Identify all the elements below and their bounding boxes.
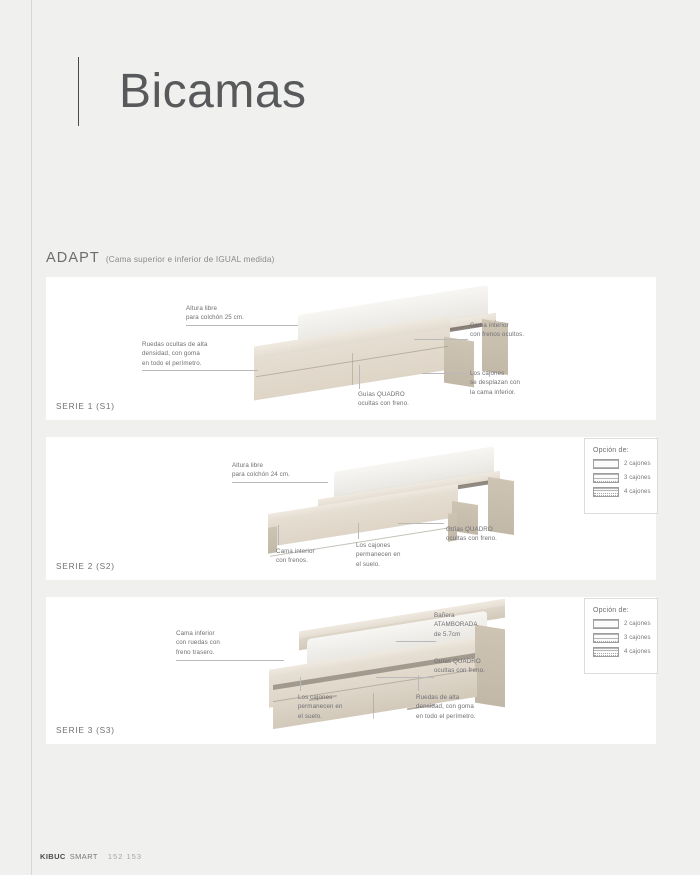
collection-name: SMART [70, 852, 98, 861]
serie-label-3: SERIE 3 (S3) [56, 725, 115, 735]
leader-cama-interior [414, 339, 468, 340]
brand-name: KIBUC [40, 852, 66, 861]
option-box-serie-2: Opción de: 2 cajones 3 cajones 4 cajones [584, 438, 658, 514]
annotation-guias: Guías QUADRO ocultas con freno. [446, 525, 542, 544]
option-label: 4 cajones [624, 649, 651, 655]
drawer-2-icon [593, 459, 619, 469]
page-title: Bicamas [119, 68, 307, 116]
option-row-2-cajones[interactable]: 2 cajones [593, 619, 657, 629]
option-row-2-cajones[interactable]: 2 cajones [593, 459, 657, 469]
annotation-guias: Guías QUADRO ocultas con freno. [434, 657, 530, 676]
option-label: 3 cajones [624, 475, 651, 481]
annotation-cama-interior: Cama interior con frenos ocultos. [470, 321, 580, 340]
leader-ruedas [142, 370, 258, 371]
drawer-divider-vertical [352, 353, 353, 385]
annotation-ruedas: Ruedas de alta densidad, con goma en tod… [416, 693, 524, 721]
leader-cama-interior [278, 525, 279, 545]
option-box-title: Opción de: [593, 447, 657, 454]
serie-label-2: SERIE 2 (S2) [56, 561, 115, 571]
leader-cajones [422, 373, 468, 374]
panel-serie-3: Cama inferior con ruedas con freno trase… [46, 597, 656, 744]
leader-banera [396, 641, 436, 642]
option-box-title: Opción de: [593, 607, 657, 614]
annotation-cajones: Los cajones permanecen en el suelo. [356, 541, 446, 569]
left-margin-rule [31, 0, 32, 875]
panel-serie-2: Altura libre para colchón 24 cm. Cama in… [46, 437, 656, 580]
option-label: 2 cajones [624, 621, 651, 627]
page-numbers: 152 153 [108, 852, 142, 861]
annotation-cama-interior: Cama interior con frenos. [276, 547, 366, 566]
drawer-2-icon [593, 619, 619, 629]
panel-serie-1: Altura libre para colchón 25 cm. Ruedas … [46, 277, 656, 420]
drawer-3-icon [593, 473, 619, 483]
leader-ruedas [418, 675, 419, 691]
page-footer: KIBUC SMART 152 153 [40, 852, 142, 861]
drawer-4-icon [593, 487, 619, 497]
serie-label-1: SERIE 1 (S1) [56, 401, 115, 411]
section-subtitle: (Cama superior e inferior de IGUAL medid… [106, 255, 275, 264]
leader-guias [359, 365, 360, 389]
leader-cajones [358, 523, 359, 539]
section-heading: ADAPT (Cama superior e inferior de IGUAL… [46, 250, 275, 266]
option-box-serie-3: Opción de: 2 cajones 3 cajones 4 cajones [584, 598, 658, 674]
option-label: 4 cajones [624, 489, 651, 495]
option-row-4-cajones[interactable]: 4 cajones [593, 487, 657, 497]
option-row-3-cajones[interactable]: 3 cajones [593, 633, 657, 643]
leader-guias [398, 523, 444, 524]
option-row-4-cajones[interactable]: 4 cajones [593, 647, 657, 657]
annotation-banera: Bañera ATAMBORADA de 5.7cm [434, 611, 530, 639]
annotation-cajones: Los cajones permanecen en el suelo. [298, 693, 388, 721]
leader-cajones [300, 677, 301, 691]
leader-guias [376, 677, 434, 678]
annotation-altura: Altura libre para colchón 25 cm. [186, 304, 286, 323]
section-name: ADAPT [46, 250, 100, 266]
option-row-3-cajones[interactable]: 3 cajones [593, 473, 657, 483]
option-label: 3 cajones [624, 635, 651, 641]
title-accent-rule [78, 57, 79, 126]
leader-altura [232, 482, 328, 483]
drawer-3-icon [593, 633, 619, 643]
catalog-page: Bicamas ADAPT (Cama superior e inferior … [0, 0, 700, 875]
annotation-guias: Guías QUADRO ocultas con freno. [358, 390, 454, 409]
annotation-ruedas: Ruedas ocultas de alta densidad, con gom… [142, 340, 246, 368]
option-label: 2 cajones [624, 461, 651, 467]
drawer-4-icon [593, 647, 619, 657]
annotation-altura: Altura libre para colchón 24 cm. [232, 461, 332, 480]
annotation-cajones: Los cajones se desplazan con la cama inf… [470, 369, 580, 397]
leader-altura [186, 325, 298, 326]
annotation-cama-inferior: Cama inferior con ruedas con freno trase… [176, 629, 272, 657]
leader-cama-inferior [176, 660, 284, 661]
